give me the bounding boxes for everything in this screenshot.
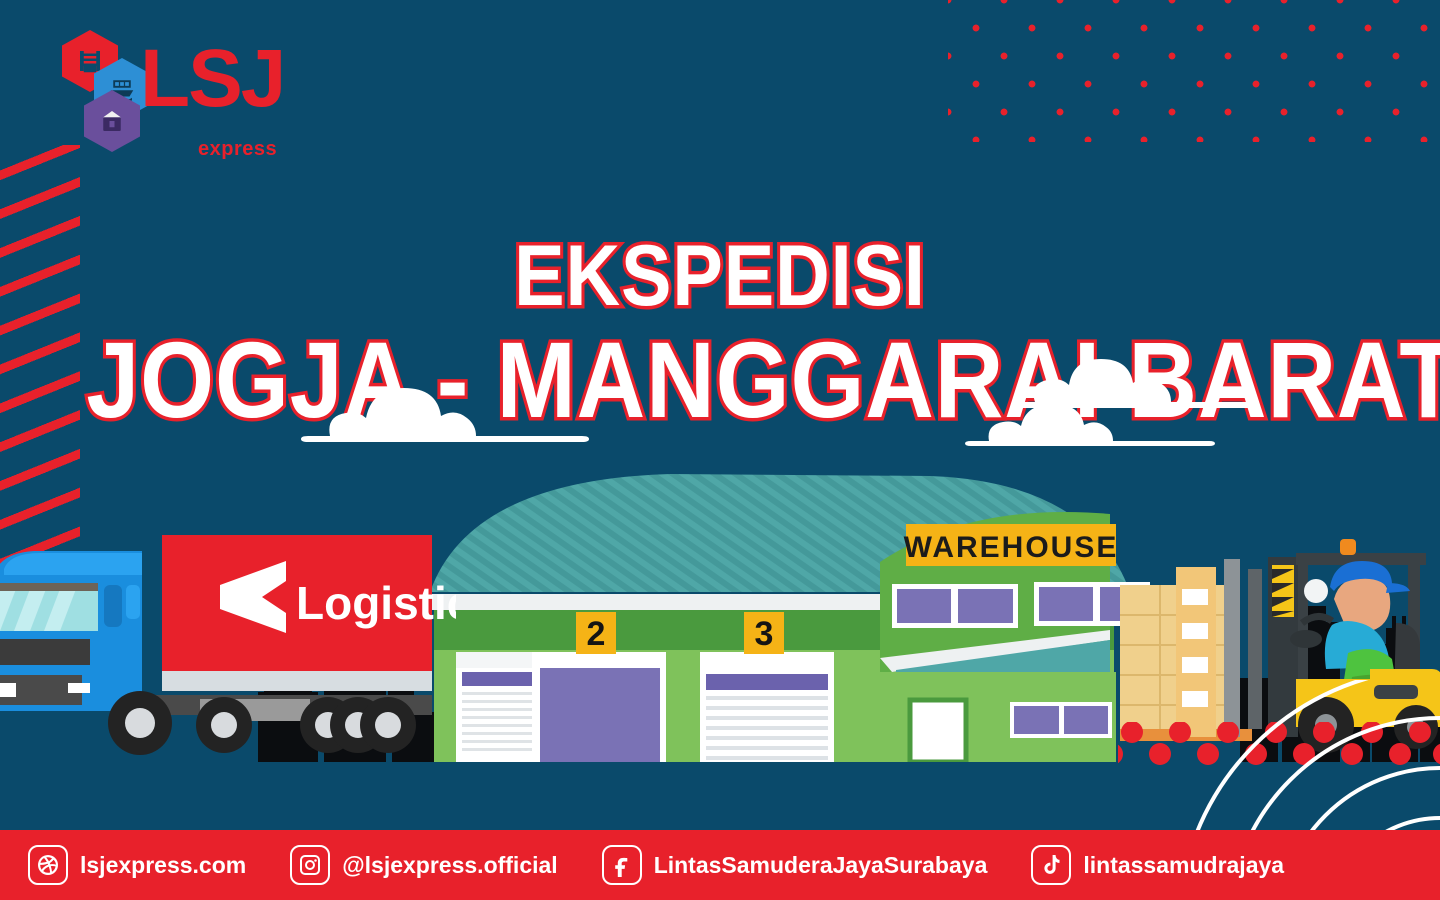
instagram-icon [290,845,330,885]
social-label-website: lsjexpress.com [80,852,246,879]
facebook-icon [602,845,642,885]
logo-wordmark: LSJ [140,38,284,120]
cloud-icon [965,402,1215,450]
social-item-website[interactable]: lsjexpress.com [28,845,246,885]
illustration-scene: 2 3 WAREHOUSE [0,360,1440,830]
delivery-truck: Logistic [0,527,456,762]
cloud-icon [300,382,590,448]
social-item-facebook[interactable]: LintasSamuderaJayaSurabaya [602,845,988,885]
warehouse-building: 2 3 WAREHOUSE [410,462,1150,762]
social-item-tiktok[interactable]: lintassamudrajaya [1031,845,1284,885]
social-label-tiktok: lintassamudrajaya [1083,852,1284,879]
logo-tagline: express [198,138,277,161]
poster-canvas: LSJ express EKSPEDISI JOGJA - MANGGARAI … [0,0,1440,900]
warehouse-sign-text: WAREHOUSE [904,531,1119,564]
bay-number-3: 3 [755,615,774,653]
bay-number-2: 2 [587,615,606,653]
headline-line-1: EKSPEDISI [86,228,1353,324]
truck-logistic-label: Logistic [296,577,456,629]
tiktok-icon [1031,845,1071,885]
social-label-instagram: @lsjexpress.official [342,852,557,879]
social-label-facebook: LintasSamuderaJayaSurabaya [654,852,988,879]
dot-grid-decoration [948,0,1440,142]
red-dot-row-decoration [1118,722,1440,768]
brand-logo[interactable]: LSJ express [56,18,306,158]
social-footer-bar: lsjexpress.com @lsjexpress.official Lint… [0,830,1440,900]
social-item-instagram[interactable]: @lsjexpress.official [290,845,557,885]
website-icon [28,845,68,885]
